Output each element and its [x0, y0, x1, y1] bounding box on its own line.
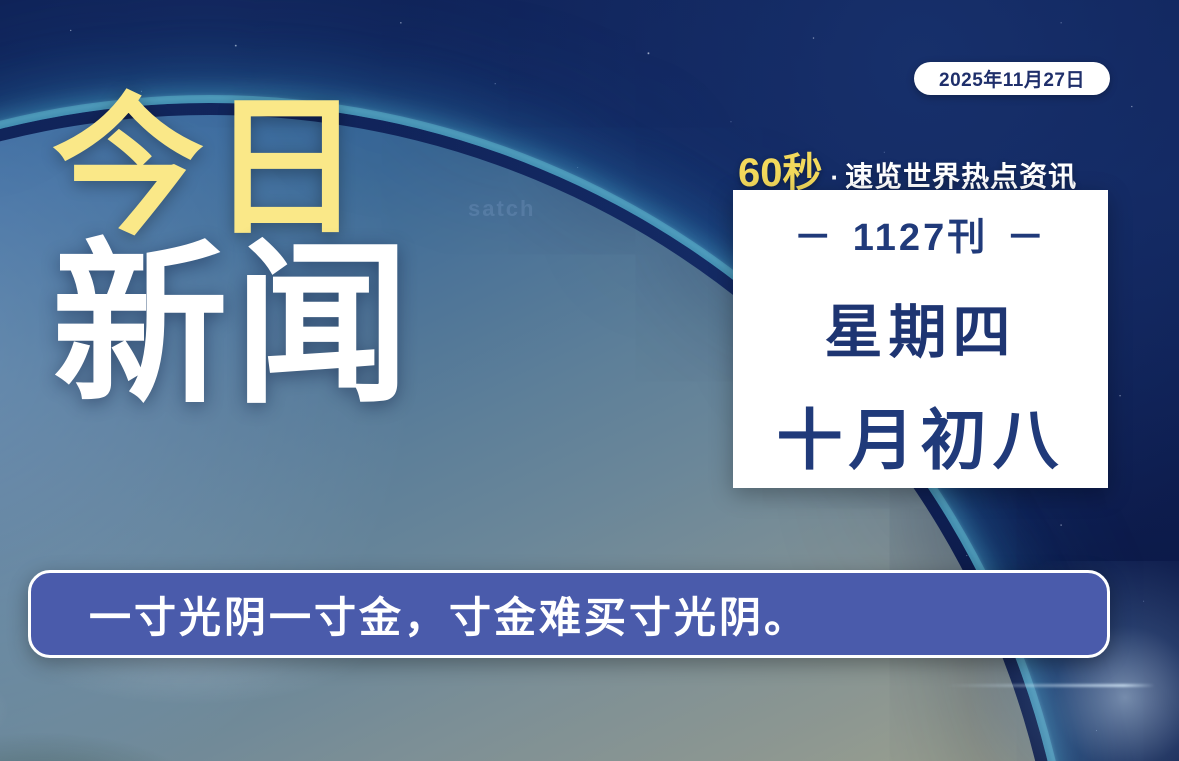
lunar-date-label: 十月初八	[777, 387, 1065, 483]
news-poster: satch 今日 新闻 2025年11月27日 60秒 · 速览世界热点资讯 －…	[0, 0, 1179, 761]
lens-flare-streak	[945, 684, 1155, 687]
issue-number: 1127刊	[853, 206, 988, 261]
headline-block: 今日 新闻	[52, 92, 472, 414]
quote-banner: 一寸光阴一寸金，寸金难买寸光阴。	[28, 570, 1110, 658]
issue-info-card: － 1127刊 － 星期四 十月初八	[733, 190, 1108, 488]
tagline-separator-dot: ·	[831, 162, 840, 193]
date-badge: 2025年11月27日	[914, 62, 1110, 95]
headline-line-today: 今日	[52, 92, 472, 244]
issue-number-row: － 1127刊 －	[794, 206, 1047, 261]
headline-line-news: 新闻	[52, 238, 472, 414]
quote-text: 一寸光阴一寸金，寸金难买寸光阴。	[89, 584, 809, 645]
issue-dash-right: －	[1006, 206, 1047, 261]
issue-dash-left: －	[794, 206, 835, 261]
watermark-text: satch	[468, 196, 535, 222]
weekday-label: 星期四	[824, 285, 1016, 369]
tagline-text: 速览世界热点资讯	[845, 155, 1077, 195]
